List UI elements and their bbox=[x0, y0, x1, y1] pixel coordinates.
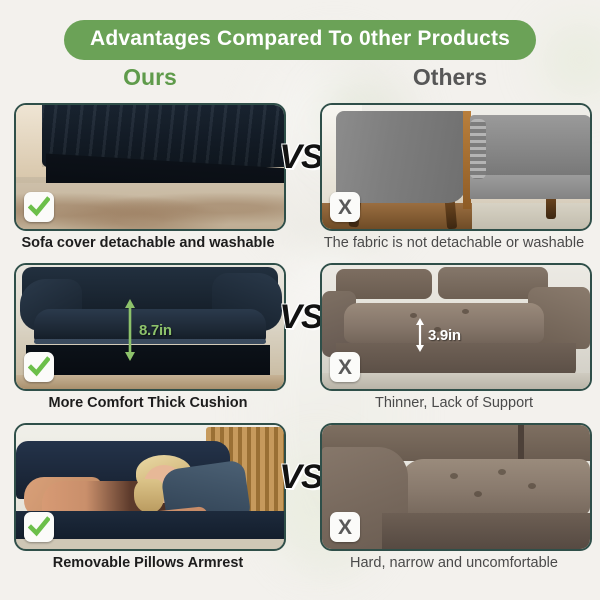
product-photo-others: X bbox=[320, 103, 592, 231]
caption-ours: Sofa cover detachable and washable bbox=[14, 230, 282, 256]
double-arrow-icon bbox=[415, 318, 425, 352]
check-icon bbox=[24, 192, 54, 222]
photo-brown-tufted-sofa bbox=[322, 425, 590, 549]
caption-ours: More Comfort Thick Cushion bbox=[14, 390, 282, 416]
x-icon: X bbox=[330, 352, 360, 382]
caption-others: The fabric is not detachable or washable bbox=[320, 230, 588, 256]
check-icon bbox=[24, 512, 54, 542]
product-photo-ours bbox=[14, 103, 286, 231]
column-title-others: Others bbox=[300, 64, 600, 91]
header: Advantages Compared To 0ther Products bbox=[0, 20, 600, 60]
product-photo-ours bbox=[14, 423, 286, 551]
caption-others: Hard, narrow and uncomfortable bbox=[320, 550, 588, 576]
page-title: Advantages Compared To 0ther Products bbox=[64, 20, 536, 60]
product-photo-others: 3.9in X bbox=[320, 263, 592, 391]
column-title-ours: Ours bbox=[0, 64, 300, 91]
measurement-value-ours: 8.7in bbox=[139, 322, 172, 339]
comparison-infographic: Advantages Compared To 0ther Products Ou… bbox=[0, 0, 600, 600]
photo-grey-sofa bbox=[322, 105, 590, 229]
measurement-value-others: 3.9in bbox=[428, 327, 461, 344]
product-photo-ours: 8.7in bbox=[14, 263, 286, 391]
comparison-row: VS X Removable Pillows Armrest Hard, nar… bbox=[0, 420, 600, 580]
caption-others: Thinner, Lack of Support bbox=[320, 390, 588, 416]
measurement-annotation-ours: 8.7in bbox=[124, 299, 172, 361]
comparison-row: 8.7in VS bbox=[0, 260, 600, 420]
double-arrow-icon bbox=[124, 299, 136, 361]
check-icon bbox=[24, 352, 54, 382]
column-headers: Ours Others bbox=[0, 64, 600, 98]
caption-ours: Removable Pillows Armrest bbox=[14, 550, 282, 576]
photo-navy-sofa-skirt bbox=[16, 105, 284, 229]
x-icon: X bbox=[330, 512, 360, 542]
photo-woman-on-navy-sofa bbox=[16, 425, 284, 549]
product-photo-others: X bbox=[320, 423, 592, 551]
measurement-annotation-others: 3.9in bbox=[415, 318, 461, 352]
x-icon: X bbox=[330, 192, 360, 222]
comparison-row: VS X Sofa cover detachable and washable … bbox=[0, 100, 600, 260]
